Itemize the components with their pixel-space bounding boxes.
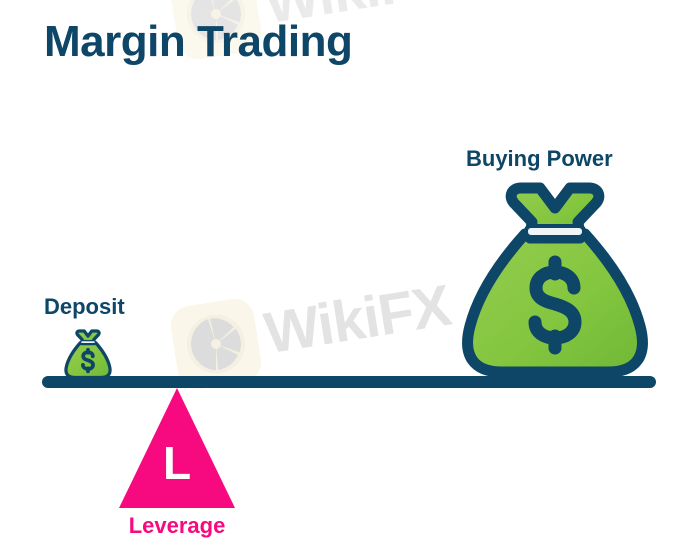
label-buying-power: Buying Power [466, 146, 613, 172]
page-title: Margin Trading [44, 18, 352, 66]
infographic-canvas: WikiFX Margin Trading [0, 0, 700, 550]
large-money-bag-icon [452, 176, 658, 382]
watermark-text: WikiFX [260, 272, 455, 367]
fulcrum-triangle: L [118, 386, 236, 510]
small-money-bag-icon [62, 328, 114, 380]
label-deposit: Deposit [44, 294, 125, 320]
label-leverage: Leverage [118, 513, 236, 539]
fulcrum-letter: L [118, 440, 236, 486]
aperture-icon [179, 307, 252, 380]
